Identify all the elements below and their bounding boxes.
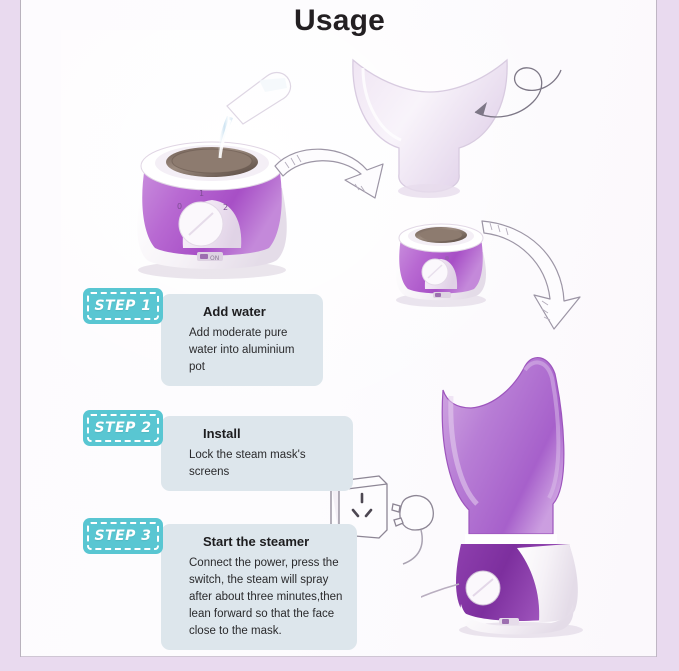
svg-text:2: 2 xyxy=(223,203,228,212)
step-2-heading: Install xyxy=(203,426,339,441)
infographic-page: Usage xyxy=(0,0,679,671)
step-2-text-box: Install Lock the steam mask's screens xyxy=(161,416,353,491)
arrow-curl-into-mask xyxy=(461,58,571,153)
step-2-badge: STEP 2 xyxy=(83,410,163,446)
step-1-body: Add moderate pure water into aluminium p… xyxy=(189,325,309,376)
step-3-text-box: Start the steamer Connect the power, pre… xyxy=(161,524,357,650)
step-1-heading: Add water xyxy=(203,304,309,319)
step-1-badge-label: STEP 1 xyxy=(83,288,163,324)
svg-text:ON: ON xyxy=(210,255,219,262)
content-sheet: Usage xyxy=(20,0,657,657)
page-title: Usage xyxy=(21,4,658,38)
step-3-badge: STEP 3 xyxy=(83,518,163,554)
step-2-badge-label: STEP 2 xyxy=(83,410,163,446)
step-3-badge-label: STEP 3 xyxy=(83,518,163,554)
step-3-body: Connect the power, press the switch, the… xyxy=(189,555,343,640)
svg-text:0: 0 xyxy=(177,202,182,211)
step-1-text-box: Add water Add moderate pure water into a… xyxy=(161,294,323,386)
svg-text:1: 1 xyxy=(199,189,204,198)
step-2-body: Lock the steam mask's screens xyxy=(189,447,339,481)
step-1-badge: STEP 1 xyxy=(83,288,163,324)
step-3-heading: Start the steamer xyxy=(203,534,343,549)
arrow-step1-to-step2 xyxy=(271,140,401,225)
arrow-step2-to-step3 xyxy=(476,205,586,340)
